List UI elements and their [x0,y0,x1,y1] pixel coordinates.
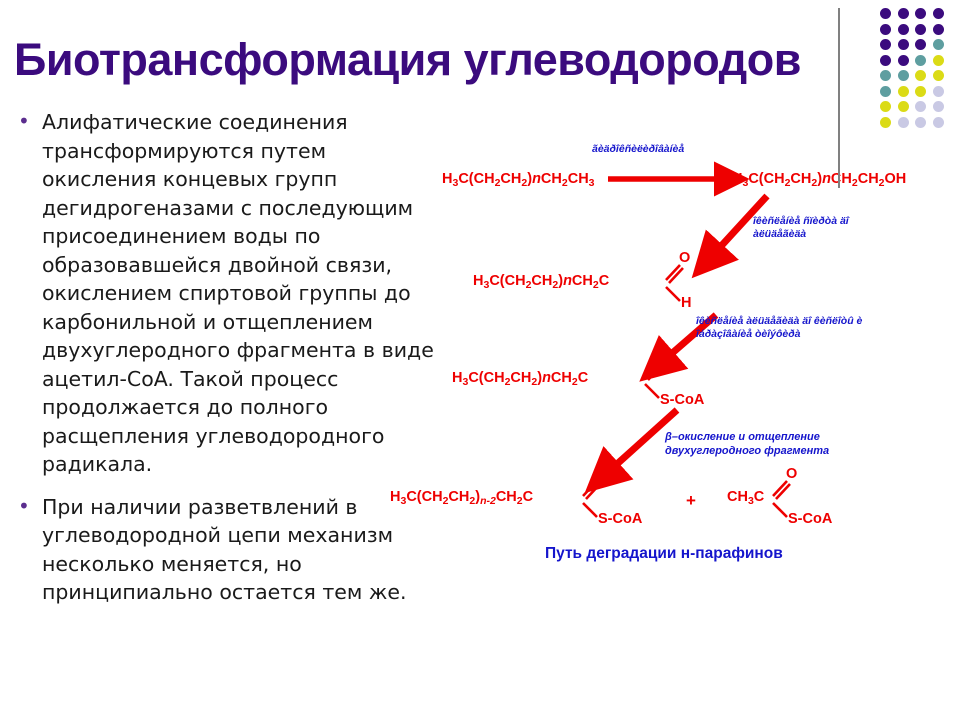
formula-primary-alcohol: H3C(CH2CH2)nCH2CH2OH [732,171,906,189]
bullet-marker-icon: • [16,108,42,134]
decorative-dot [915,117,926,128]
decorative-dot [933,24,944,35]
label-alcohol-to-aldehyde: îêèñëåíèå ñïèðòà äî àëüäåãèäà [753,215,849,241]
formula-primary-alcohol-text: H3C(CH2CH2)nCH2CH2OH [732,171,906,187]
formula-aldehyde-text: H3C(CH2CH2)nCH2C [473,273,609,289]
formula-aldehyde: H3C(CH2CH2)nCH2C [473,273,609,291]
decorative-dot [933,8,944,19]
formula-alkane: H3C(CH2CH2)nCH2CH3 [442,171,595,189]
bullet-marker-icon: • [16,493,42,519]
label-beta-oxidation: β–окисление и отщепление двухуглеродного… [665,430,829,458]
formula-shortened-acyl-coa-thiol: S-CoA [598,511,642,527]
decorative-dot [915,86,926,97]
formula-acyl-coa-thiol: S-CoA [660,392,704,408]
decorative-dot [933,86,944,97]
page-title: Биотрансформация углеводородов [14,34,960,86]
decorative-dot [880,101,891,112]
decorative-dot [933,101,944,112]
label-aldehyde-to-acid: îêèñëåíèå àëüäåãèäà äî êèñëîòû è îáðàçîâ… [696,315,862,341]
bullet-text: При наличии разветвлений в углеводородно… [42,493,446,607]
decorative-dot [898,8,909,19]
formula-shortened-acyl-coa-oxygen: O [596,466,607,482]
plus-sign: + [686,491,696,511]
formula-acyl-coa: H3C(CH2CH2)nCH2C [452,370,588,388]
decorative-dot [915,101,926,112]
formula-aldehyde-hydrogen: H [681,295,691,311]
decorative-dot [915,8,926,19]
decorative-dot [898,24,909,35]
decorative-dot [880,24,891,35]
formula-acetyl-coa-oxygen: O [786,466,797,482]
diagram-caption: Путь деградации н-парафинов [545,545,783,563]
decorative-dot [933,117,944,128]
decorative-dot [915,24,926,35]
decorative-dot [880,117,891,128]
reaction-arrows [440,140,960,580]
formula-aldehyde-oxygen: O [679,250,690,266]
formula-acetyl-coa-thiol: S-CoA [788,511,832,527]
decorative-dot [898,101,909,112]
formula-acetyl-coa-text: CH3C [727,489,764,505]
bullet-list: • Алифатические соединения трансформирую… [16,108,446,621]
formula-acyl-coa-text: H3C(CH2CH2)nCH2C [452,370,588,386]
list-item: • Алифатические соединения трансформирую… [16,108,446,479]
decorative-dot [880,8,891,19]
formula-acetyl-coa: CH3C [727,489,764,507]
decorative-dot [898,117,909,128]
label-hydroxylation: ãèäðîêñèëèðîâàíèå [592,143,684,156]
decorative-dot [898,86,909,97]
formula-alkane-text: H3C(CH2CH2)nCH2CH3 [442,171,595,187]
bullet-text: Алифатические соединения трансформируютс… [42,108,446,479]
list-item: • При наличии разветвлений в углеводород… [16,493,446,607]
formula-acyl-coa-oxygen: O [658,347,669,363]
decorative-dot [880,86,891,97]
degradation-pathway-diagram: H3C(CH2CH2)nCH2CH3 H3C(CH2CH2)nCH2CH2OH … [440,140,960,580]
